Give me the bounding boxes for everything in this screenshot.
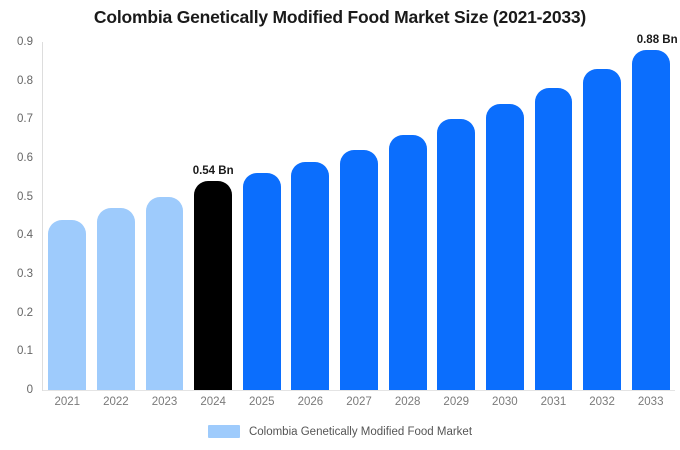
legend-swatch-0 bbox=[208, 425, 240, 438]
bar-group[interactable] bbox=[146, 197, 184, 390]
bar-2030[interactable] bbox=[486, 104, 524, 390]
bar-group[interactable]: 0.54 Bn bbox=[194, 181, 232, 390]
plot-area: 0.54 Bn0.88 Bn bbox=[43, 42, 675, 390]
bar-group[interactable] bbox=[437, 119, 475, 390]
bar-group[interactable] bbox=[97, 208, 135, 390]
bar-2033[interactable] bbox=[632, 50, 670, 390]
x-axis-tick-2028: 2028 bbox=[395, 396, 421, 408]
bar-group[interactable]: 0.88 Bn bbox=[632, 50, 670, 390]
y-axis-tick: 0.3 bbox=[5, 268, 33, 280]
y-axis-tick: 0.2 bbox=[5, 307, 33, 319]
x-axis-tick-2032: 2032 bbox=[589, 396, 615, 408]
x-axis-tick-2024: 2024 bbox=[200, 396, 226, 408]
bar-group[interactable] bbox=[48, 220, 86, 390]
x-axis-tick-2021: 2021 bbox=[55, 396, 81, 408]
y-axis-tick: 0.5 bbox=[5, 191, 33, 203]
bar-2023[interactable] bbox=[146, 197, 184, 390]
bar-2028[interactable] bbox=[389, 135, 427, 390]
x-axis-tick-2029: 2029 bbox=[443, 396, 469, 408]
y-axis-tick: 0.7 bbox=[5, 113, 33, 125]
x-axis-tick-2026: 2026 bbox=[298, 396, 324, 408]
bar-2029[interactable] bbox=[437, 119, 475, 390]
bar-group[interactable] bbox=[291, 162, 329, 390]
x-axis-tick-2033: 2033 bbox=[638, 396, 664, 408]
bar-2024[interactable] bbox=[194, 181, 232, 390]
y-axis-tick: 0.4 bbox=[5, 229, 33, 241]
bar-2031[interactable] bbox=[535, 88, 573, 390]
bar-2025[interactable] bbox=[243, 173, 281, 390]
bar-2032[interactable] bbox=[583, 69, 621, 390]
chart-legend: Colombia Genetically Modified Food Marke… bbox=[0, 425, 680, 438]
bar-group[interactable] bbox=[535, 88, 573, 390]
x-axis-tick-2025: 2025 bbox=[249, 396, 275, 408]
x-axis-tick-2023: 2023 bbox=[152, 396, 178, 408]
bar-2026[interactable] bbox=[291, 162, 329, 390]
chart-container: Colombia Genetically Modified Food Marke… bbox=[0, 0, 680, 450]
y-axis-tick: 0.6 bbox=[5, 152, 33, 164]
bar-group[interactable] bbox=[486, 104, 524, 390]
y-axis-tick: 0 bbox=[5, 384, 33, 396]
x-axis-tick-2022: 2022 bbox=[103, 396, 129, 408]
bar-group[interactable] bbox=[583, 69, 621, 390]
x-axis-tick-2030: 2030 bbox=[492, 396, 518, 408]
bar-group[interactable] bbox=[389, 135, 427, 390]
bar-value-label-2024: 0.54 Bn bbox=[193, 165, 234, 177]
bar-2022[interactable] bbox=[97, 208, 135, 390]
bar-group[interactable] bbox=[243, 173, 281, 390]
bar-2021[interactable] bbox=[48, 220, 86, 390]
x-axis-line bbox=[43, 390, 675, 391]
x-axis-tick-2027: 2027 bbox=[346, 396, 372, 408]
x-axis-tick-2031: 2031 bbox=[541, 396, 567, 408]
bar-2027[interactable] bbox=[340, 150, 378, 390]
chart-title: Colombia Genetically Modified Food Marke… bbox=[0, 7, 680, 28]
bar-group[interactable] bbox=[340, 150, 378, 390]
legend-label-0[interactable]: Colombia Genetically Modified Food Marke… bbox=[249, 426, 472, 438]
bar-value-label-2033: 0.88 Bn bbox=[637, 34, 678, 46]
y-axis-tick: 0.9 bbox=[5, 36, 33, 48]
y-axis-tick: 0.1 bbox=[5, 345, 33, 357]
y-axis-tick: 0.8 bbox=[5, 75, 33, 87]
